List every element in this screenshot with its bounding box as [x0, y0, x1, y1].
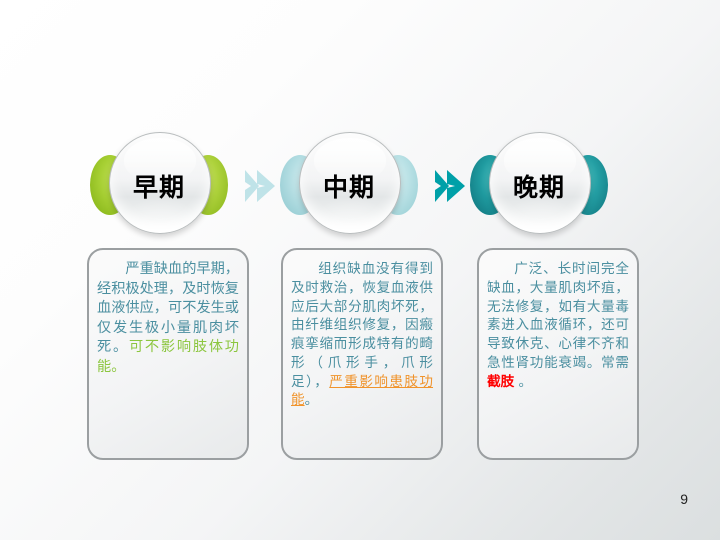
description-text-late: 广泛、长时间完全缺血，大量肌肉坏疽，无法修复，如有大量毒素进入血液循环，还可导致… — [487, 260, 629, 391]
description-text-early: 严重缺血的早期，经积极处理，及时恢复血液供应，可不发生或仅发生极小量肌肉坏死。可… — [97, 260, 239, 378]
description-box-early: 严重缺血的早期，经积极处理，及时恢复血液供应，可不发生或仅发生极小量肌肉坏死。可… — [87, 248, 249, 460]
text-segment: 。 — [305, 392, 319, 408]
description-box-middle: 组织缺血没有得到及时救治，恢复血液供应后大部分肌肉坏死，由纤维组织修复，因瘢痕挛… — [281, 248, 443, 460]
text-segment: 。 — [514, 374, 532, 390]
description-box-late: 广泛、长时间完全缺血，大量肌肉坏疽，无法修复，如有大量毒素进入血液循环，还可导致… — [477, 248, 639, 460]
stage-label-early: 早期 — [88, 132, 230, 240]
stage-node-middle[interactable]: 中期 — [278, 132, 420, 240]
text-segment-highlight-red: 截肢 — [487, 374, 514, 390]
chevron-right-icon — [243, 166, 279, 206]
chevron-right-icon — [433, 166, 469, 206]
stage-label-middle: 中期 — [278, 132, 420, 240]
stage-node-early[interactable]: 早期 — [88, 132, 230, 240]
stage-node-late[interactable]: 晚期 — [468, 132, 610, 240]
stage-label-late: 晚期 — [468, 132, 610, 240]
page-number: 9 — [680, 491, 688, 507]
stage-progression-row: 早期 中期 晚期 — [0, 132, 720, 240]
text-segment: 广泛、长时间完全缺血，大量肌肉坏疽，无法修复，如有大量毒素进入血液循环，还可导致… — [487, 261, 629, 371]
text-segment: 组织缺血没有得到及时救治，恢复血液供应后大部分肌肉坏死，由纤维组织修复，因瘢痕挛… — [291, 261, 433, 390]
description-text-middle: 组织缺血没有得到及时救治，恢复血液供应后大部分肌肉坏死，由纤维组织修复，因瘢痕挛… — [291, 260, 433, 410]
slide-canvas: 早期 中期 晚期 — [0, 0, 720, 540]
